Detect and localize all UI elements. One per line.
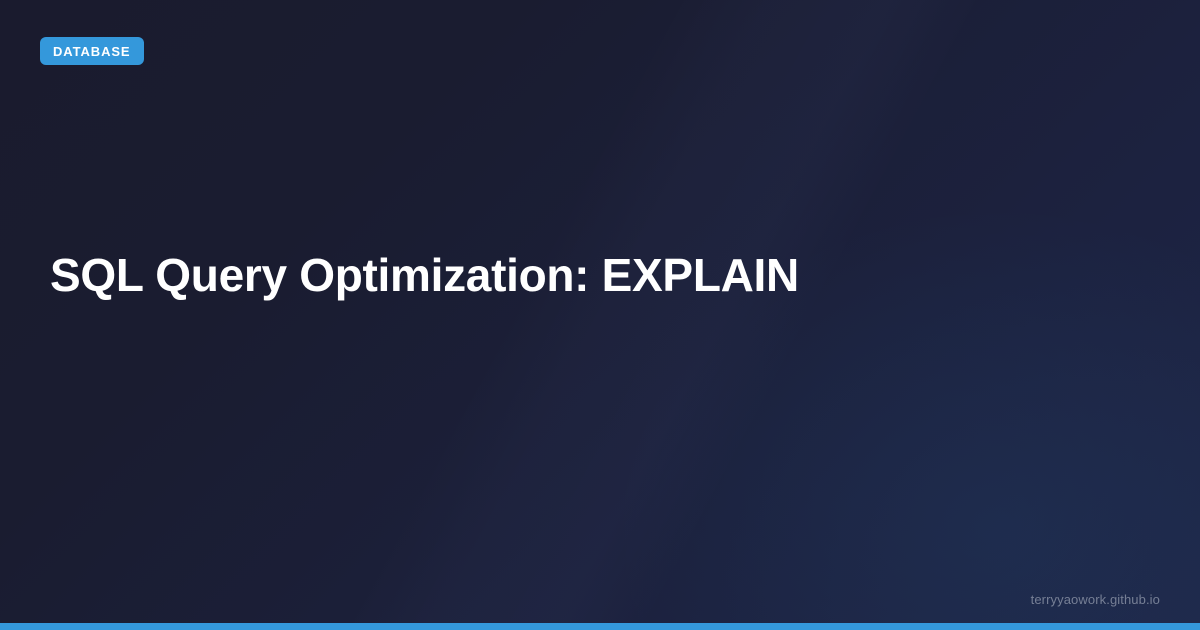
category-badge-label: DATABASE [53,45,131,58]
diagonal-gradient-overlay [0,0,1200,630]
title-block: SQL Query Optimization: EXPLAIN [50,248,1090,302]
bottom-accent-bar [0,623,1200,630]
og-share-card: DATABASE SQL Query Optimization: EXPLAIN… [0,0,1200,630]
page-title: SQL Query Optimization: EXPLAIN [50,248,1090,302]
category-badge: DATABASE [40,37,144,65]
site-domain-label: terryyaowork.github.io [1031,592,1160,607]
site-footer: terryyaowork.github.io [1031,591,1160,609]
